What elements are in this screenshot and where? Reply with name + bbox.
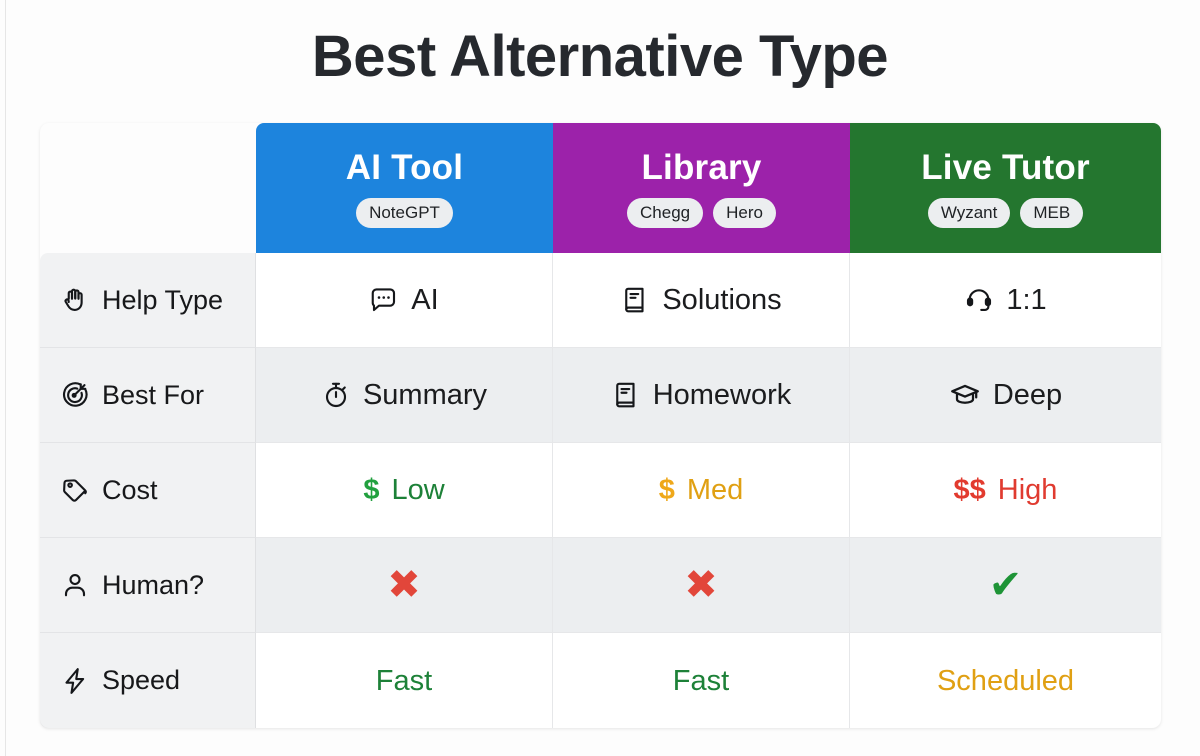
comparison-table-page: Best Alternative Type AI Tool NoteGPT Li… <box>0 0 1200 756</box>
cell-value: Solutions <box>662 283 781 317</box>
book-icon <box>620 285 650 315</box>
brand-badge[interactable]: Chegg <box>627 198 703 228</box>
cell-value: Fast <box>376 664 432 698</box>
cell-human-library: ✖ <box>553 538 850 633</box>
row-label-help-type: Help Type <box>40 253 256 348</box>
cell-value: Scheduled <box>937 664 1074 698</box>
cost-symbol: $ <box>363 473 379 507</box>
row-label-best-for: Best For <box>40 348 256 443</box>
left-edge-divider <box>5 0 6 756</box>
cell-value: Low <box>391 473 444 507</box>
cell-value: High <box>998 473 1058 507</box>
cell-value: Homework <box>653 378 792 412</box>
book-icon <box>611 380 641 410</box>
brand-badge[interactable]: NoteGPT <box>356 198 453 228</box>
cell-speed-library: Fast <box>553 633 850 728</box>
cell-human-live-tutor: ✔ <box>850 538 1161 633</box>
cell-value: 1:1 <box>1006 283 1046 317</box>
cell-cost-library: $ Med <box>553 443 850 538</box>
cross-icon: ✖ <box>684 565 718 605</box>
speech-bubble-dots-icon <box>369 285 399 315</box>
column-title: AI Tool <box>346 148 463 188</box>
brand-badge[interactable]: Wyzant <box>928 198 1011 228</box>
row-label-human: Human? <box>40 538 256 633</box>
column-title: Live Tutor <box>921 148 1090 188</box>
cell-speed-ai-tool: Fast <box>256 633 553 728</box>
cell-value: Deep <box>993 378 1062 412</box>
row-label-text: Best For <box>102 380 204 411</box>
cell-speed-live-tutor: Scheduled <box>850 633 1161 728</box>
cell-best-for-library: Homework <box>553 348 850 443</box>
cost-symbol: $ <box>659 473 675 507</box>
row-label-cost: Cost <box>40 443 256 538</box>
cell-help-type-ai-tool: AI <box>256 253 553 348</box>
column-title: Library <box>641 148 761 188</box>
cell-value: Fast <box>673 664 729 698</box>
cell-value: Med <box>687 473 743 507</box>
row-label-text: Human? <box>102 570 204 601</box>
row-label-text: Speed <box>102 665 180 696</box>
brand-badge[interactable]: MEB <box>1020 198 1083 228</box>
check-icon: ✔ <box>989 565 1023 605</box>
cell-help-type-live-tutor: 1:1 <box>850 253 1161 348</box>
page-title: Best Alternative Type <box>0 18 1200 96</box>
badge-row: Chegg Hero <box>627 198 776 228</box>
badge-row: NoteGPT <box>356 198 453 228</box>
cell-value: Summary <box>363 378 487 412</box>
badge-row: Wyzant MEB <box>928 198 1083 228</box>
person-icon <box>60 570 90 600</box>
graduation-cap-icon <box>949 379 981 411</box>
price-tag-icon <box>60 475 90 505</box>
target-dart-icon <box>60 380 90 410</box>
cell-value: AI <box>411 283 438 317</box>
table-corner-spacer <box>40 123 256 253</box>
lightning-bolt-icon <box>60 666 90 696</box>
raised-hand-icon <box>60 285 90 315</box>
cell-human-ai-tool: ✖ <box>256 538 553 633</box>
cell-best-for-ai-tool: Summary <box>256 348 553 443</box>
stopwatch-icon <box>321 380 351 410</box>
row-label-text: Help Type <box>102 285 223 316</box>
row-label-speed: Speed <box>40 633 256 728</box>
cross-icon: ✖ <box>387 565 421 605</box>
row-label-text: Cost <box>102 475 158 506</box>
brand-badge[interactable]: Hero <box>713 198 776 228</box>
column-header-live-tutor[interactable]: Live Tutor Wyzant MEB <box>850 123 1161 253</box>
column-header-library[interactable]: Library Chegg Hero <box>553 123 850 253</box>
comparison-table: AI Tool NoteGPT Library Chegg Hero Live … <box>40 123 1161 728</box>
cell-best-for-live-tutor: Deep <box>850 348 1161 443</box>
headset-icon <box>964 285 994 315</box>
cost-symbol: $$ <box>954 473 986 507</box>
cell-cost-ai-tool: $ Low <box>256 443 553 538</box>
cell-cost-live-tutor: $$ High <box>850 443 1161 538</box>
cell-help-type-library: Solutions <box>553 253 850 348</box>
column-header-ai-tool[interactable]: AI Tool NoteGPT <box>256 123 553 253</box>
